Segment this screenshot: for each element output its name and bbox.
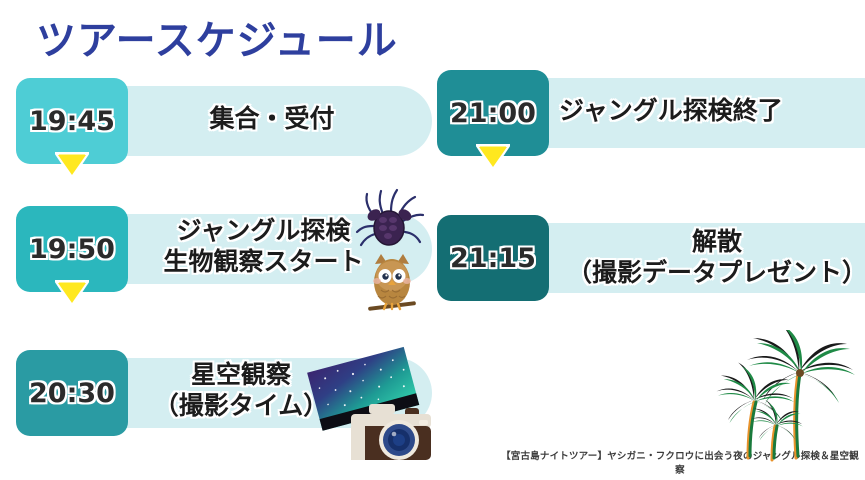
row-label-line: 解散 <box>567 227 865 258</box>
time-label: 21:00 <box>450 98 536 129</box>
row-label-line: 集合・受付 <box>132 104 412 135</box>
down-arrow-icon <box>476 144 510 170</box>
row-label: ジャングル探検終了 <box>559 96 849 127</box>
time-badge: 20:30 <box>16 350 128 436</box>
row-label-line: ジャングル探検終了 <box>559 96 849 127</box>
row-label-line: （撮影データプレゼント） <box>567 258 865 289</box>
camera-icon <box>347 398 435 466</box>
row-label: 解散 （撮影データプレゼント） <box>567 227 865 288</box>
row-label: 集合・受付 <box>132 104 412 135</box>
time-label: 20:30 <box>29 378 115 409</box>
tour-schedule-poster: ツアースケジュール 19:45 集合・受付 19:50 ジャングル探検 生物観察… <box>0 0 865 480</box>
owl-icon <box>366 248 418 314</box>
page-title: ツアースケジュール <box>36 8 398 66</box>
time-badge: 21:15 <box>437 215 549 301</box>
palm-trees-icon <box>700 330 860 465</box>
down-arrow-icon <box>55 152 89 178</box>
down-arrow-icon <box>55 280 89 306</box>
time-label: 21:15 <box>450 243 536 274</box>
time-label: 19:45 <box>29 106 115 137</box>
time-label: 19:50 <box>29 234 115 265</box>
